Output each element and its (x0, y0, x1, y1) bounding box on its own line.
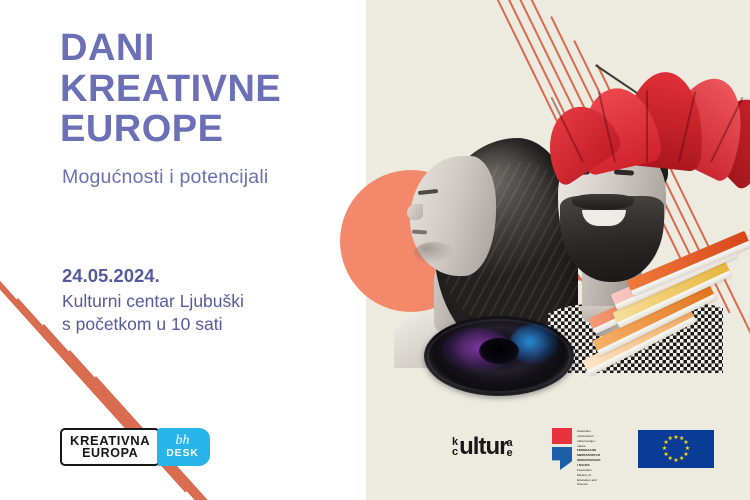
ministry-text-line: Science (577, 483, 601, 487)
eu-flag-star: ★ (673, 435, 678, 441)
kc-letter-c: c (452, 447, 458, 457)
eu-flag-star: ★ (673, 458, 678, 464)
kc-suffix-e: e (506, 448, 512, 458)
headline-line-2: KREATIVNE (60, 69, 360, 110)
event-details: 24.05.2024. Kulturni centar Ljubuški s p… (62, 264, 244, 336)
ministry-text-line: obrazovanja i (577, 440, 601, 444)
umbrella-canopy (558, 64, 750, 168)
ministry-mark-red-block (552, 428, 572, 444)
umbrella-rib (646, 90, 648, 162)
bh-desk-logo-tab: bh DESK (157, 428, 209, 466)
kreativna-europa-logo: KREATIVNA EUROPA bh DESK (60, 428, 210, 466)
kc-kultura-word: ultur (459, 435, 507, 459)
poster-subtitle: Mogućnosti i potencijali (62, 166, 268, 189)
headline-line-3: EUROPE (60, 109, 360, 150)
man-mustache (572, 194, 634, 210)
book-stack-image (590, 278, 750, 403)
eu-flag-logo: ★★★★★★★★★★★★ (638, 430, 714, 468)
bh-script-text: bh (175, 434, 189, 448)
kc-monogram: k c (452, 437, 458, 458)
lens-ring (427, 319, 571, 393)
desk-text: DESK (166, 448, 198, 460)
kc-kultura-logo: k c ultur a e (452, 430, 513, 464)
kreativna-europa-line-2: EUROPA (82, 447, 138, 460)
woman-chin-shadow (414, 242, 454, 264)
kreativna-europa-logo-box: KREATIVNA EUROPA (60, 428, 160, 466)
event-date: 24.05.2024. (62, 264, 244, 289)
eu-flag-star: ★ (668, 436, 673, 442)
kreativna-europa-line-1: KREATIVNA (70, 434, 150, 448)
eu-flag-star: ★ (662, 446, 667, 452)
ministry-mark-blue-block (552, 447, 572, 470)
ministry-text-line: Ministry of (577, 474, 601, 478)
event-venue: Kulturni centar Ljubuški (62, 290, 244, 313)
eu-flag-star: ★ (679, 456, 684, 462)
kc-kultura-suffix: a e (506, 438, 512, 459)
page-title: DANI KREATIVNE EUROPE (60, 28, 360, 150)
eu-flag-star: ★ (663, 452, 668, 458)
ministry-logo-mark (552, 428, 572, 470)
headline-line-1: DANI (60, 28, 360, 69)
woman-nose (407, 204, 423, 220)
event-time: s početkom u 10 sati (62, 313, 244, 336)
event-poster: DANI KREATIVNE EUROPE Mogućnosti i poten… (0, 0, 750, 500)
red-umbrella-image (558, 64, 750, 196)
ministry-logo: Federalnoministarstvoobrazovanja inaukeF… (552, 428, 601, 470)
camera-lens-image (424, 316, 574, 396)
ministry-logo-text: Federalnoministarstvoobrazovanja inaukeF… (577, 428, 601, 487)
